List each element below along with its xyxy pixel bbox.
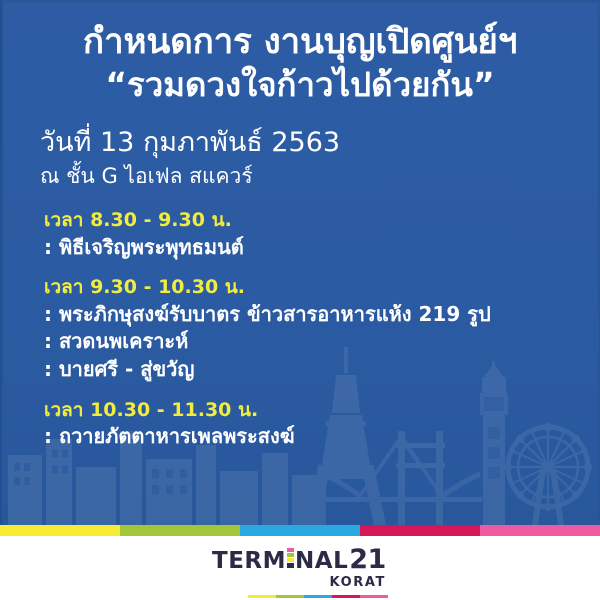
logo-colored-i-icon xyxy=(287,548,294,568)
schedule-activity: : ถวายภัตตาหารเพลพระสงฆ์ xyxy=(44,423,584,451)
logo-rule-crimson xyxy=(332,595,360,598)
page-title: กำหนดการ งานบุญเปิดศูนย์ฯ xyxy=(0,22,600,63)
schedule-activity: : สวดนพเคราะห์ xyxy=(44,328,584,356)
schedule-block: เวลา 9.30 - 10.30 น. : พระภิกษุสงฆ์รับบา… xyxy=(44,275,584,383)
schedule-activity: : พิธีเจริญพระพุทธมนต์ xyxy=(44,234,584,262)
poster-footer: TERM NAL 21 KORAT xyxy=(0,536,600,600)
logo-wordmark: TERM NAL 21 xyxy=(212,546,388,573)
brand-color-strip xyxy=(0,525,600,536)
logo-letter-t: T xyxy=(212,548,228,574)
color-segment-green xyxy=(120,525,240,536)
poster-canvas: กำหนดการ งานบุญเปิดศูนย์ฯ “รวมดวงใจก้าวไ… xyxy=(0,0,600,600)
color-segment-blue xyxy=(240,525,360,536)
color-segment-crimson xyxy=(360,525,480,536)
logo-text-part2: NAL xyxy=(295,550,348,573)
logo-text-part1: TERM xyxy=(212,550,286,573)
logo-underline-rule xyxy=(248,595,388,598)
logo-rule-green xyxy=(276,595,304,598)
logo-rule-pink xyxy=(360,595,388,598)
schedule-time-heading: เวลา 9.30 - 10.30 น. xyxy=(44,275,584,301)
schedule-activity: : พระภิกษุสงฆ์รับบาตร ข้าวสารอาหารแห้ง 2… xyxy=(44,301,584,329)
logo-letters-erm: ERM xyxy=(228,548,286,574)
schedule-time-heading: เวลา 8.30 - 9.30 น. xyxy=(44,208,584,234)
event-datetime-group: วันที่ 13 กุมภาพันธ์ 2563 ณ ชั้น G ไอเฟล… xyxy=(40,127,560,189)
schedule-block: เวลา 8.30 - 9.30 น. : พิธีเจริญพระพุทธมน… xyxy=(44,208,584,261)
poster-blue-panel: กำหนดการ งานบุญเปิดศูนย์ฯ “รวมดวงใจก้าวไ… xyxy=(0,0,600,525)
color-segment-yellow xyxy=(0,525,120,536)
logo-rule-blue xyxy=(304,595,332,598)
headline-group: กำหนดการ งานบุญเปิดศูนย์ฯ “รวมดวงใจก้าวไ… xyxy=(0,22,600,105)
logo-subtitle-korat: KORAT xyxy=(212,575,388,590)
schedule-time-heading: เวลา 10.30 - 11.30 น. xyxy=(44,398,584,424)
terminal21-logo: TERM NAL 21 KORAT xyxy=(212,546,388,598)
color-segment-pink xyxy=(480,525,600,536)
schedule-block: เวลา 10.30 - 11.30 น. : ถวายภัตตาหารเพลพ… xyxy=(44,398,584,451)
page-subtitle: “รวมดวงใจก้าวไปด้วยกัน” xyxy=(0,65,600,105)
logo-number-21: 21 xyxy=(349,546,386,573)
event-venue: ณ ชั้น G ไอเฟล สแควร์ xyxy=(40,163,560,189)
schedule-list: เวลา 8.30 - 9.30 น. : พิธีเจริญพระพุทธมน… xyxy=(44,208,584,451)
logo-rule-yellow xyxy=(248,595,276,598)
schedule-activity: : บายศรี - สู่ขวัญ xyxy=(44,356,584,384)
poster-content: กำหนดการ งานบุญเปิดศูนย์ฯ “รวมดวงใจก้าวไ… xyxy=(0,0,600,525)
event-date: วันที่ 13 กุมภาพันธ์ 2563 xyxy=(40,127,560,160)
